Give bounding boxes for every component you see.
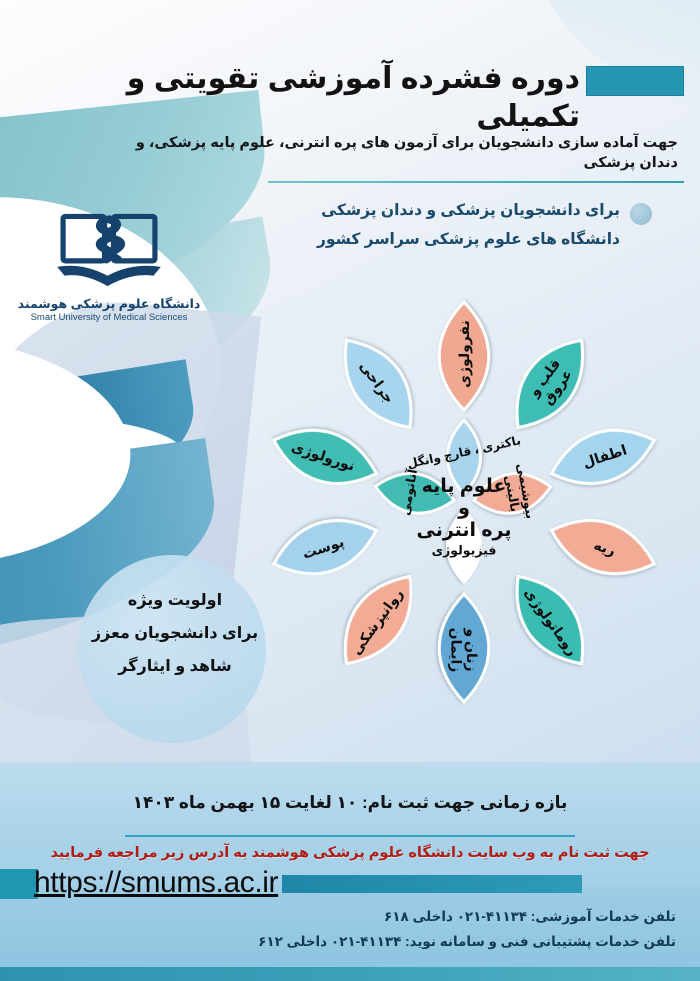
petal-label: فیزیولوژی [432,543,497,557]
priority-note: اولویت ویژه برای دانشجویان معزز شاهد و ا… [60,585,290,683]
audience-line-1: برای دانشجویان پزشکی و دندان پزشکی [230,196,620,225]
page-subtitle: جهت آماده سازی دانشجویان برای آزمون های … [110,133,678,174]
decorative-swoosh-blue-dark [0,359,209,574]
header-divider [268,181,684,183]
bullet-dot-icon [630,203,652,225]
footer-divider [125,835,575,837]
website-url-link[interactable]: https://smums.ac.ir [34,866,278,900]
url-accent-chip-left [0,869,38,899]
audience-block: برای دانشجویان پزشکی و دندان پزشکی دانشگ… [230,196,620,255]
specialties-petal-diagram: نفرولوژیقلب وعروقاطفالریهروماتولوژیزنان … [258,296,670,708]
phone-line-2: تلفن خدمات پشتیبانی فنی و سامانه نوید: ۴… [0,930,676,955]
priority-line-3: شاهد و ایثارگر [60,651,290,684]
url-accent-bar-right [282,875,582,893]
decorative-swoosh-white-3 [0,325,136,577]
priority-line-1: اولویت ویژه [60,585,290,618]
footer-bar [0,967,700,981]
petal-label: زنان وزایمان [448,627,480,672]
registration-instruction: جهت ثبت نام به وب سایت دانشگاه علوم پزشک… [0,845,700,861]
priority-line-2: برای دانشجویان معزز [60,618,290,651]
phone-line-1: تلفن خدمات آموزشی: ۴۱۱۳۴-۰۲۱ داخلی ۶۱۸ [0,905,676,930]
page-title: دوره فشرده آموزشی تقویتی و تکمیلی [110,60,580,135]
logo-name-fa: دانشگاه علوم پزشکی هوشمند [14,296,204,311]
poster-canvas: دوره فشرده آموزشی تقویتی و تکمیلی جهت آم… [0,0,700,981]
university-logo: دانشگاه علوم پزشکی هوشمند Smart Universi… [14,212,204,323]
decorative-swoosh-white-2 [0,394,196,567]
laptop-caduceus-icon [49,212,169,292]
petal-label: نفرولوژی [456,320,473,388]
registration-deadline: بازه زمانی جهت ثبت نام: ۱۰ لغایت ۱۵ بهمن… [0,793,700,813]
contact-phones: تلفن خدمات آموزشی: ۴۱۱۳۴-۰۲۱ داخلی ۶۱۸ ت… [0,905,676,955]
title-accent-bar [586,66,684,96]
audience-line-2: دانشگاه های علوم پزشکی سراسر کشور [230,225,620,254]
logo-name-en: Smart University of Medical Sciences [14,312,204,323]
